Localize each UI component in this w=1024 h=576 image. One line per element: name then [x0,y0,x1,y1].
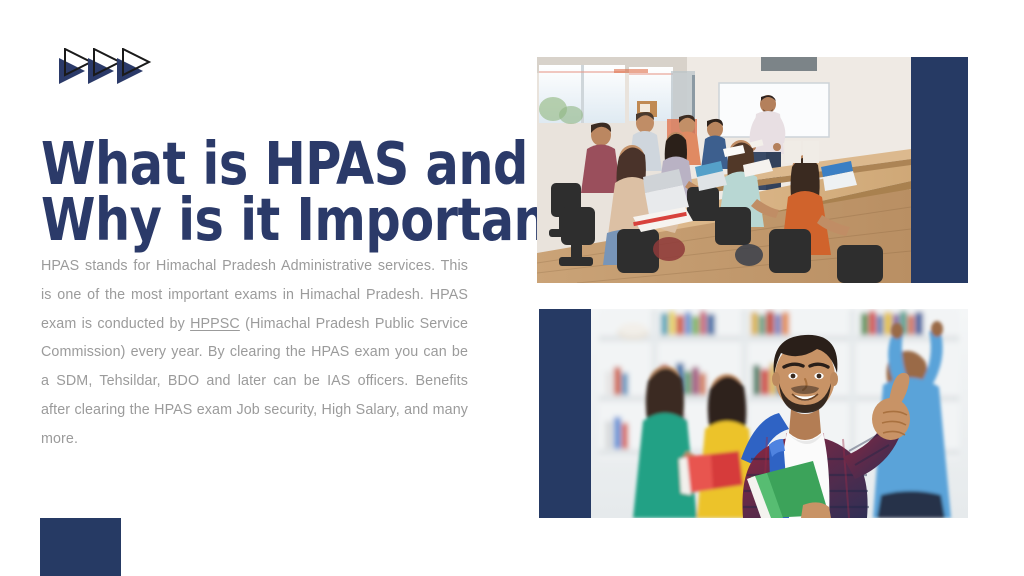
slide-title: What is HPAS and Why is it Important? [41,136,525,249]
hppsc-link[interactable]: HPPSC [190,316,240,332]
slide-title-line-2: Why is it Important? [41,192,525,249]
media-card-bottom [539,309,968,518]
body-text-part-2: (Himachal Pradesh Public Service Commiss… [41,316,468,447]
slide-title-line-1: What is HPAS and [41,136,525,193]
body-paragraph: HPAS stands for Himachal Pradesh Adminis… [41,252,468,453]
slide-canvas: What is HPAS and Why is it Important? HP… [0,0,1024,576]
corner-accent-block [40,518,121,576]
triple-arrow-bullet [57,48,162,84]
media-card-top [537,57,968,283]
media-bottom-accent-bar [539,309,591,518]
arrow-icon [115,48,157,84]
library-student-photo [591,309,968,518]
media-top-accent-bar [911,57,968,283]
classroom-photo [537,57,911,283]
